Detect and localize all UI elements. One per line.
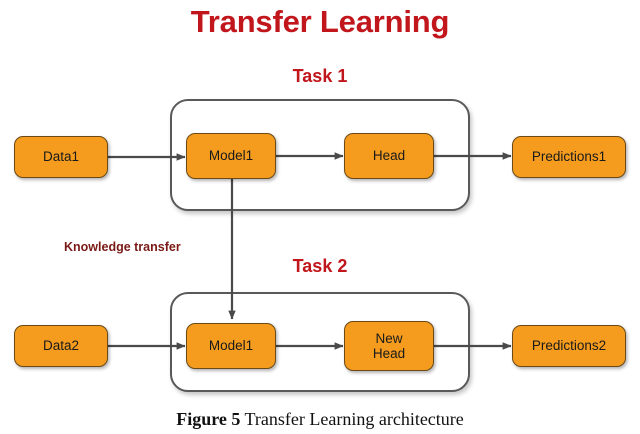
node-data2[interactable]: Data2: [14, 325, 108, 367]
node-head-task1[interactable]: Head: [344, 133, 434, 179]
node-new-head-line1: New: [373, 331, 405, 346]
node-model1-task2[interactable]: Model1: [186, 323, 276, 369]
node-data2-label: Data2: [43, 338, 79, 353]
knowledge-transfer-label: Knowledge transfer: [64, 240, 181, 254]
figure-caption-number: Figure 5: [176, 409, 240, 429]
task1-title: Task 1: [250, 66, 390, 87]
node-new-head-line2: Head: [373, 346, 405, 361]
page-title: Transfer Learning: [0, 4, 640, 40]
node-predictions2[interactable]: Predictions2: [512, 325, 626, 367]
node-model1-task1-label: Model1: [209, 148, 253, 163]
node-new-head-task2[interactable]: New Head: [344, 321, 434, 371]
node-data1[interactable]: Data1: [14, 136, 108, 178]
figure-caption: Figure 5 Transfer Learning architecture: [0, 409, 640, 430]
figure-canvas: Transfer Learning Task 1 Task 2 Knowledg…: [0, 0, 640, 434]
node-head-task1-label: Head: [373, 148, 405, 163]
node-model1-task1[interactable]: Model1: [186, 133, 276, 179]
node-predictions2-label: Predictions2: [532, 338, 606, 353]
node-predictions1-label: Predictions1: [532, 149, 606, 164]
task2-title: Task 2: [250, 256, 390, 277]
node-model1-task2-label: Model1: [209, 338, 253, 353]
figure-caption-text: Transfer Learning architecture: [240, 409, 463, 429]
node-data1-label: Data1: [43, 149, 79, 164]
node-predictions1[interactable]: Predictions1: [512, 136, 626, 178]
